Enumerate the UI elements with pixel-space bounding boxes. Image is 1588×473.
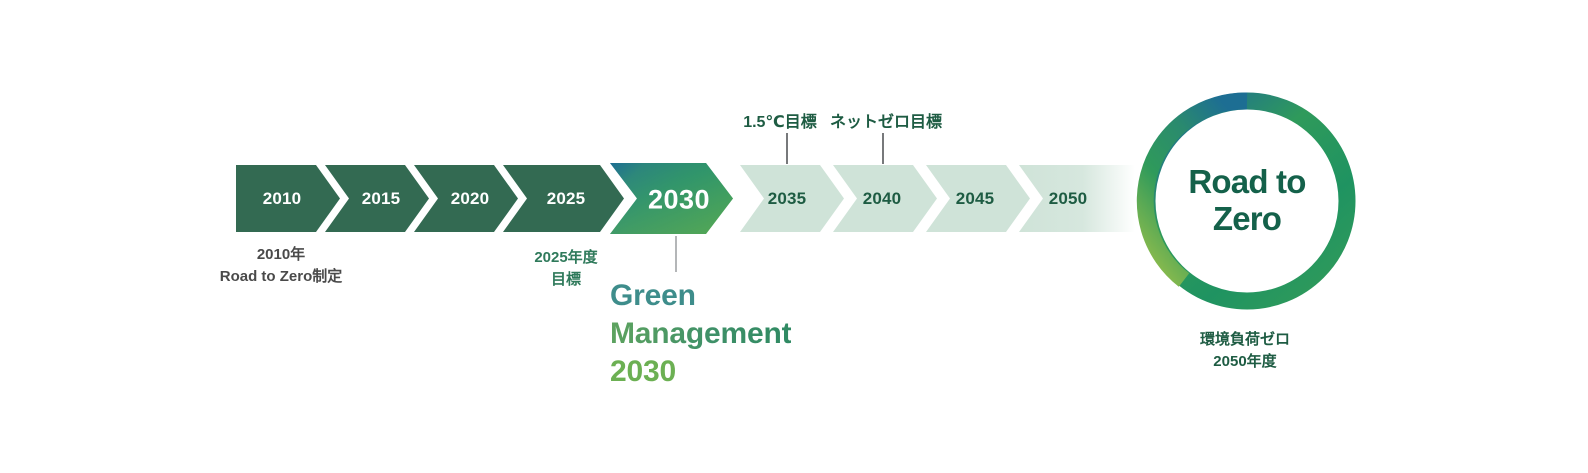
roadmap-graphic: 2010 2015 2020 2025 2030 2035 2040 2045 …	[0, 0, 1588, 473]
timeline-label-2020: 2020	[451, 189, 490, 209]
timeline-label-2025: 2025	[547, 189, 586, 209]
timeline-label-2015: 2015	[362, 189, 401, 209]
road-to-zero-line2: Zero	[1213, 201, 1281, 238]
annotation-2010-line1: 2010年	[220, 244, 343, 266]
program-title-line1: Green	[610, 277, 791, 315]
timeline-label-2010: 2010	[263, 189, 302, 209]
annotation-2010-line2: Road to Zero制定	[220, 266, 343, 288]
road-to-zero-line1: Road to	[1188, 164, 1305, 201]
road-to-zero-caption-line1: 環境負荷ゼロ	[1200, 329, 1290, 351]
road-to-zero-text: Road to Zero	[1131, 101, 1363, 301]
road-to-zero-caption: 環境負荷ゼロ 2050年度	[1200, 329, 1290, 373]
timeline-label-2050: 2050	[1049, 189, 1088, 209]
road-to-zero-caption-line2: 2050年度	[1200, 351, 1290, 373]
annotation-2025-line1: 2025年度	[534, 247, 597, 269]
program-title-line2: Management	[610, 315, 791, 353]
program-title-line3: 2030	[610, 353, 791, 391]
program-title-green-management-2030: Green Management 2030	[610, 277, 791, 390]
annotation-2010-milestone: 2010年 Road to Zero制定	[220, 244, 343, 288]
timeline-label-2040: 2040	[863, 189, 902, 209]
annotation-2025-milestone: 2025年度 目標	[534, 247, 597, 291]
annotation-2025-line2: 目標	[534, 269, 597, 291]
timeline-label-2045: 2045	[956, 189, 995, 209]
road-to-zero-badge: Road to Zero	[1131, 101, 1363, 301]
annotation-net-zero-target: ネットゼロ目標	[830, 111, 942, 134]
timeline-label-2030: 2030	[648, 185, 710, 216]
timeline-label-2035: 2035	[768, 189, 807, 209]
annotation-1-5c-target: 1.5℃目標	[743, 111, 817, 134]
